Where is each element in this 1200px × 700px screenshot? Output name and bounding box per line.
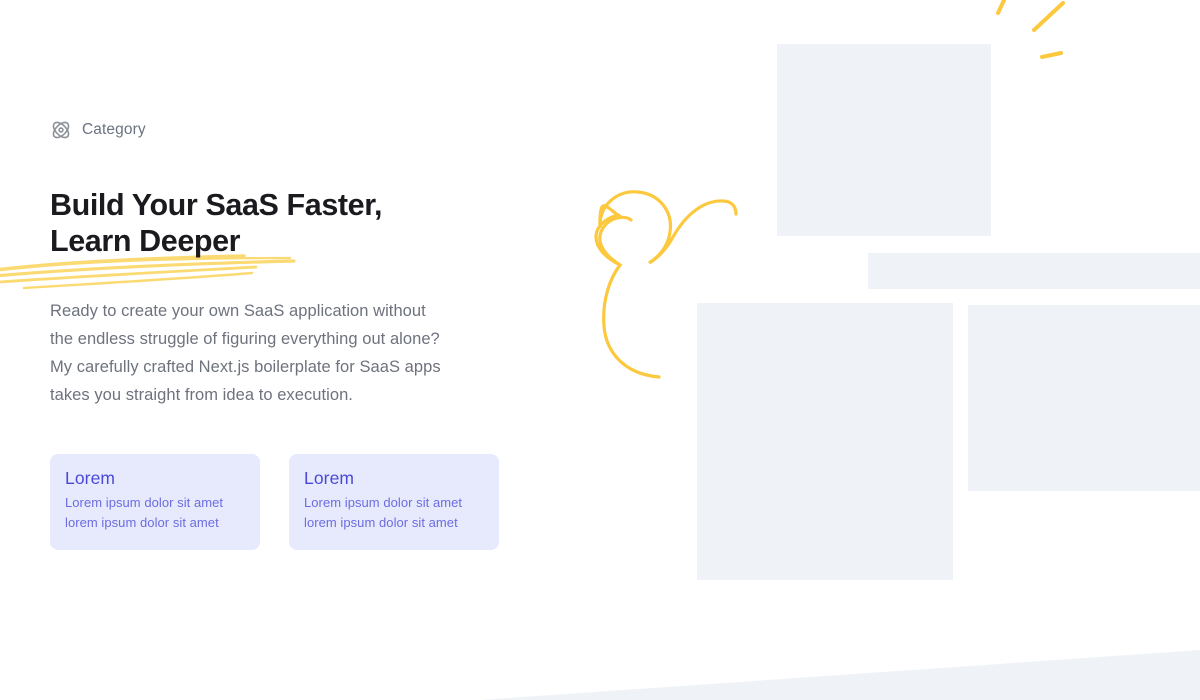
hand-drawn-squiggle-lobe-icon [600,217,631,265]
diagonal-wedge [480,650,1200,700]
placeholder-block-right [968,305,1200,491]
yellow-stroke-top-left [998,0,1005,13]
atom-icon [50,119,72,141]
yellow-stroke-diagonal [1034,3,1063,30]
category-label: Category [82,119,146,141]
feature-card-body: Lorem ipsum dolor sit amet lorem ipsum d… [65,493,245,533]
hero-content: Category Build Your SaaS Faster, Learn D… [50,118,570,550]
feature-card-list: Lorem Lorem ipsum dolor sit amet lorem i… [50,454,570,550]
page-title: Build Your SaaS Faster, Learn Deeper [50,187,570,259]
placeholder-block-top [777,44,991,236]
feature-card[interactable]: Lorem Lorem ipsum dolor sit amet lorem i… [289,454,499,550]
placeholder-block-wide [868,253,1200,289]
feature-card-body: Lorem ipsum dolor sit amet lorem ipsum d… [304,493,484,533]
feature-card-title: Lorem [65,467,245,489]
feature-card-title: Lorem [304,467,484,489]
feature-card[interactable]: Lorem Lorem ipsum dolor sit amet lorem i… [50,454,260,550]
hero-description: Ready to create your own SaaS applicatio… [50,297,570,409]
hero-page: Category Build Your SaaS Faster, Learn D… [0,0,1200,700]
category-eyebrow: Category [50,118,570,142]
headline-wrap: Build Your SaaS Faster, Learn Deeper [50,187,570,259]
yellow-stroke-short [1042,53,1061,57]
placeholder-block-large [697,303,953,580]
